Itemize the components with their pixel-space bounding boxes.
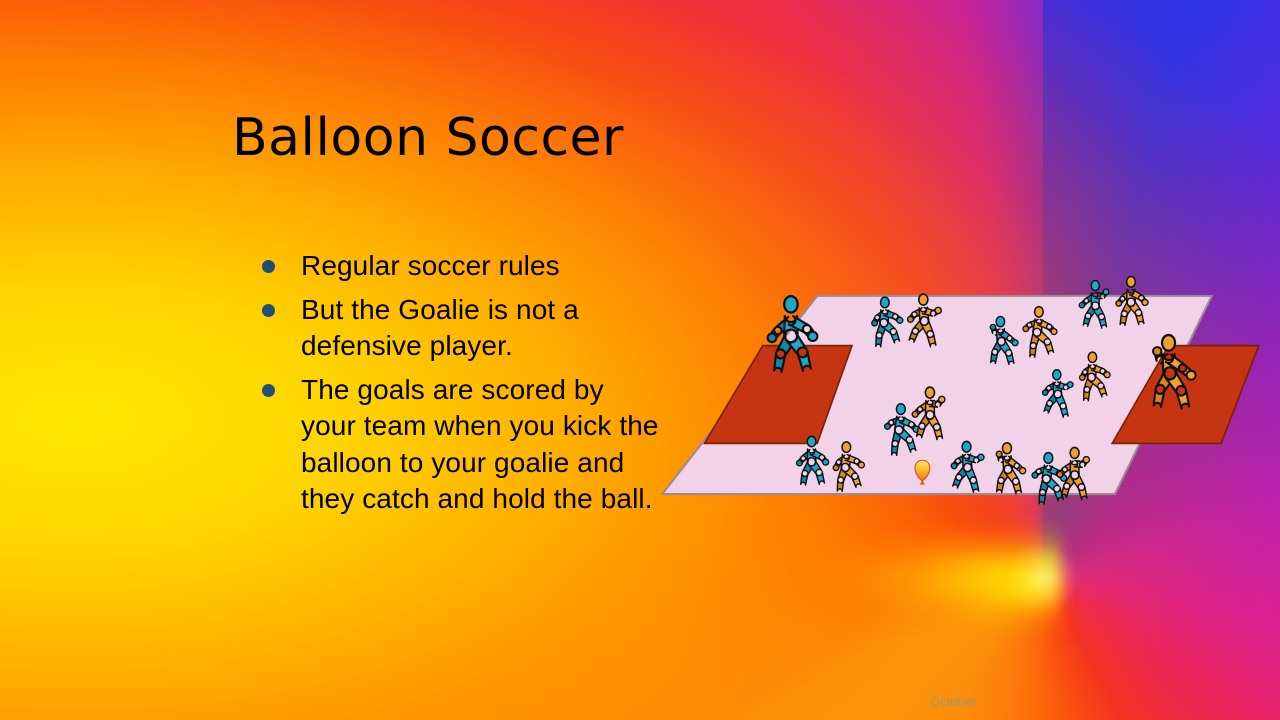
bullet-item: Regular soccer rules (262, 248, 662, 285)
bullet-item-text: But the Goalie is not a defensive player… (301, 292, 662, 365)
bullet-item-text: Regular soccer rules (301, 248, 560, 285)
slide-title: Balloon Soccer (232, 108, 624, 168)
slide-footer-date: October (930, 694, 976, 709)
bullet-marker-icon (262, 260, 275, 273)
soccer-field-graphic (650, 272, 1270, 517)
slide-background-focal-glow (1003, 548, 1083, 608)
bullet-item: But the Goalie is not a defensive player… (262, 292, 662, 365)
presentation-slide: Balloon Soccer Regular soccer rules But … (0, 0, 1280, 720)
bullet-marker-icon (262, 384, 275, 397)
bullet-item-text: The goals are scored by your team when y… (301, 372, 662, 518)
balloon-soccer-illustration (650, 272, 1270, 517)
bullet-list: Regular soccer rules But the Goalie is n… (262, 248, 662, 525)
bullet-item: The goals are scored by your team when y… (262, 372, 662, 518)
bullet-marker-icon (262, 304, 275, 317)
